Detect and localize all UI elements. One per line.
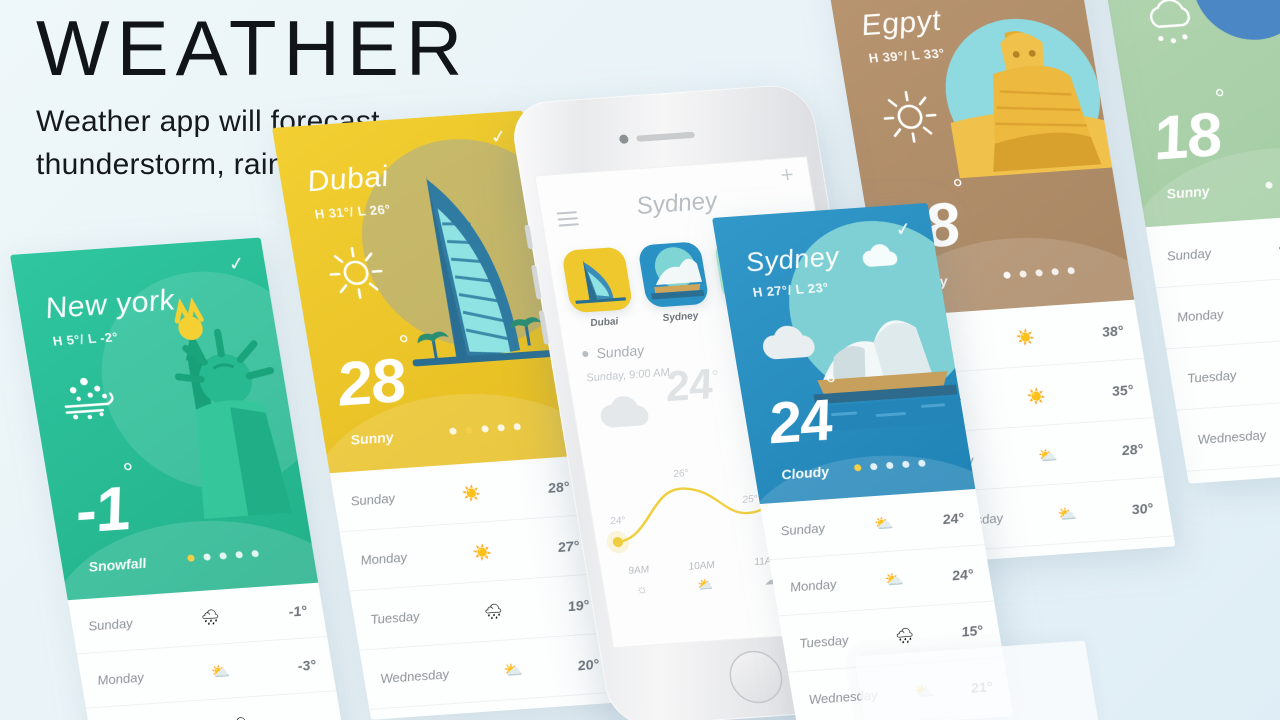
check-icon[interactable]: ✓ [489,126,509,150]
sun-icon [876,86,944,147]
forecast-temp: 28° [547,478,571,495]
sun-icon: ☀️ [468,542,497,562]
forecast-temp: 19° [566,596,590,613]
partly-cloudy-icon: ⛅ [206,662,235,682]
sun-icon [322,242,390,303]
forecast-day: Monday [1176,307,1225,325]
dot[interactable] [854,464,862,471]
forecast-temp: -1° [287,603,308,620]
forecast-day: Tuesday [1186,368,1237,386]
cloud-icon [588,386,660,435]
tile-thumbnail [637,241,710,308]
forecast-temp: 28° [1120,440,1144,457]
dot[interactable] [449,427,457,434]
rain-icon: 🌧 [890,626,919,646]
chart-point-label-1: 26° [673,468,690,480]
chart-point-label-0: 24° [609,515,626,527]
forecast-day: Sunday [349,491,396,509]
dot[interactable] [1003,271,1011,278]
dot[interactable] [1067,267,1075,274]
forecast-list: Sunday 🌧 18° Monday ⛅ 20° Tuesday 🌧 15° … [1146,210,1280,484]
dot[interactable] [1019,270,1027,277]
forecast-temp: 38° [1101,322,1125,339]
cloud-decor-icon [855,238,910,271]
selected-day-label: Sunday [595,342,645,361]
snow-wind-icon [56,369,129,425]
dot[interactable] [902,461,910,468]
dot[interactable] [497,424,505,431]
dot[interactable] [465,426,473,433]
add-city-button[interactable]: + [778,162,795,189]
sun-icon: ☼ [630,581,653,598]
dot[interactable] [1265,181,1273,188]
forecast-temp: 35° [1110,381,1134,398]
forecast-temp: 27° [556,537,580,554]
sun-icon: ☀️ [1022,386,1051,406]
card-temp-value: 28 [332,347,411,420]
forecast-temp: -3° [296,657,317,674]
card-temp-value: 24 [763,388,836,456]
opera-house-icon [637,241,710,308]
forecast-day: Sunday [779,520,826,538]
card-temperature: -1° [70,473,144,547]
forecast-temp: 30° [1130,500,1154,517]
check-icon[interactable]: ✓ [894,218,914,242]
dot[interactable] [870,463,878,470]
forecast-day: Tuesday [369,609,420,627]
dot[interactable] [219,552,227,559]
burj-icon [561,247,634,314]
card-condition: Sunny [349,429,395,448]
tile-thumbnail [561,247,634,314]
dot[interactable] [235,551,243,558]
hour-column[interactable]: 10AM ⛅ [688,560,720,594]
page-title: WEATHER [36,8,556,90]
partly-cloudy-icon: ⛅ [869,514,898,534]
menu-icon[interactable] [556,207,580,231]
forecast-day: Wednesday [1196,427,1267,447]
card-temperature: 28° [332,345,420,420]
card-hero: ✓ London H 19°/ L 14° 18° Sunny [1088,0,1280,227]
sun-icon: ☀️ [1011,327,1040,347]
app-title: Sydney [634,187,719,221]
partly-cloudy-icon: ⛅ [690,576,719,594]
partly-cloudy-icon: ⛅ [1053,504,1082,524]
forecast-temp: 15° [960,622,984,639]
cloud-rain-icon [1136,0,1207,52]
card-temp-value: 18 [1148,101,1227,174]
sun-icon: ☀️ [457,483,486,503]
city-tile-dubai[interactable]: Dubai [561,247,636,331]
dot[interactable] [251,550,259,557]
rain-icon: 🌧 [1273,238,1280,258]
rain-icon: 🌧 [196,607,225,627]
detail-temperature: 24° [662,359,724,411]
city-tile-sydney[interactable]: Sydney [637,241,712,325]
card-condition: Sunny [1165,183,1211,202]
forecast-day: Sunday [1166,246,1213,264]
dot[interactable] [203,553,211,560]
forecast-day: Tuesday [798,632,849,650]
partly-cloudy-icon: ⛅ [1033,445,1062,465]
forecast-temp: 20° [576,656,600,673]
dot[interactable] [187,554,195,561]
forecast-day: Sunday [87,615,134,633]
card-condition: Cloudy [780,463,830,482]
hour-label: 10AM [688,560,716,573]
hour-label: 9AM [628,564,650,577]
partly-cloudy-icon: ⛅ [880,570,909,590]
card-temperature: 24° [763,386,846,457]
dot[interactable] [1035,269,1043,276]
forecast-day: Monday [789,576,838,594]
selected-dot [582,351,589,357]
dot[interactable] [918,460,926,467]
dot[interactable] [1051,268,1059,275]
chart-point-label-2: 25° [742,494,759,506]
forecast-temp: 24° [951,566,975,583]
rain-icon: 🌧 [226,715,255,720]
dot[interactable] [481,425,489,432]
card-city-name: Egpyt [859,4,944,43]
forecast-day: Monday [359,550,408,568]
check-icon[interactable]: ✓ [227,253,247,277]
partly-cloudy-icon: ⛅ [499,660,528,680]
card-temperature: 18° [1148,99,1236,174]
rain-icon: 🌧 [479,601,508,621]
card-city-name: Sydney [743,241,841,278]
card-hero: ✓ New york H 5°/ L -2° -1 [10,237,318,600]
forecast-day: Wednesday [379,667,450,687]
dot[interactable] [513,423,521,430]
forecast-list: Sunday 🌧 -1° Monday ⛅ -3° Tuesday 🌧 Wedn… [68,583,355,720]
detail-temp-value: 24 [662,360,717,411]
card-city-name: Dubai [305,160,392,199]
forecast-temp: 24° [941,510,965,527]
hour-column[interactable]: 9AM ☼ [628,564,654,598]
cloud-icon [751,314,827,366]
forecast-day: Monday [96,669,145,687]
poster-stage: WEATHER Weather app will forecast thunde… [0,0,1280,720]
dot[interactable] [886,462,894,469]
